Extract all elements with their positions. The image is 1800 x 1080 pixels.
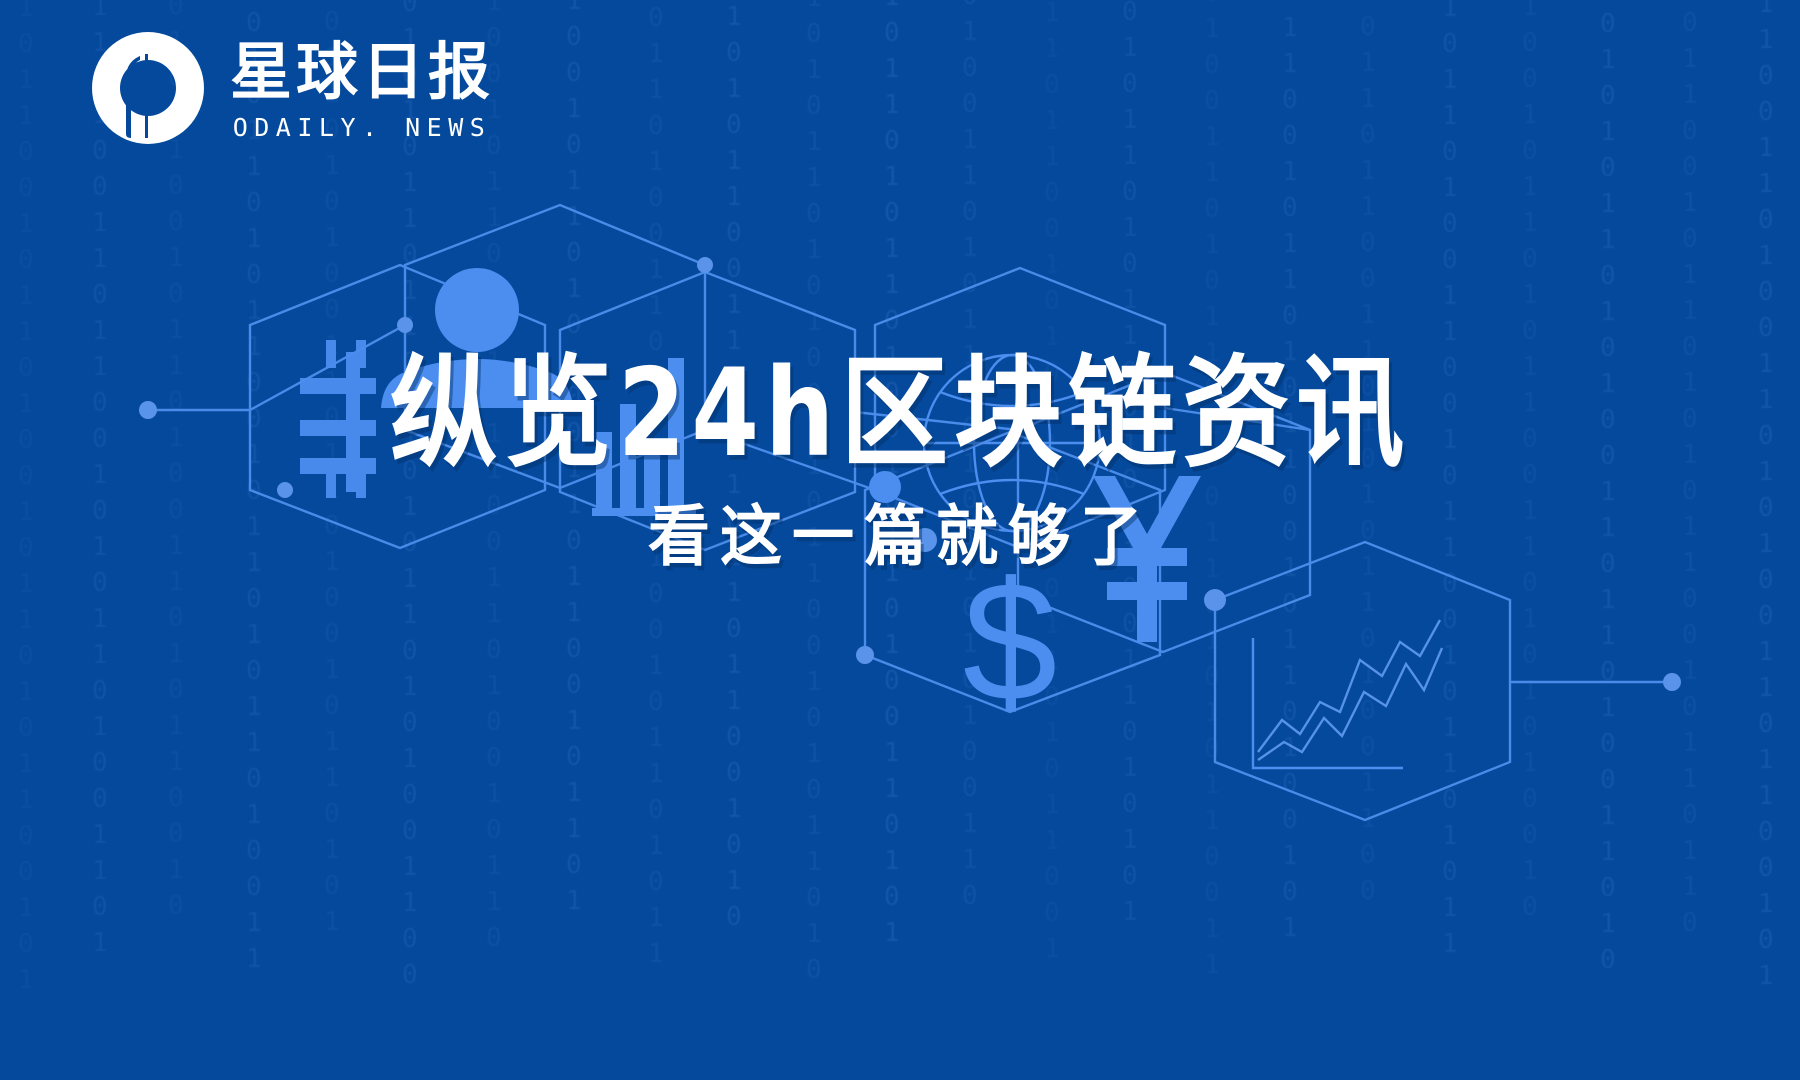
svg-text:$: $ xyxy=(963,547,1058,737)
bitcoin-icon xyxy=(300,340,376,498)
odaily-circle-p-logo xyxy=(88,28,208,148)
node-dot-left-end xyxy=(139,401,157,419)
poster-canvas: 1 0 1 1 0 0 1 0 1 1 0 1 0 0 1 0 1 1 0 1 … xyxy=(0,0,1800,1080)
brand-name-en: ODAILY. NEWS xyxy=(230,114,494,142)
link-mid-c xyxy=(1165,408,1310,430)
bar-chart-icon xyxy=(592,358,696,516)
hexagon-2 xyxy=(405,205,705,488)
node-dot-dollar-hex-lower xyxy=(856,646,874,664)
node-dot-hex7-topleft xyxy=(1204,589,1226,611)
link-mid-b xyxy=(855,412,1018,430)
brand-name-cn: 星球日报 xyxy=(230,40,494,104)
line-chart-icon xyxy=(1253,620,1442,768)
node-dot-hex1-bottom xyxy=(277,482,293,498)
node-dot-subtitle xyxy=(913,528,937,552)
link-mid-a xyxy=(705,430,875,490)
hexagon-7 xyxy=(1215,542,1510,820)
dollar-icon: $ xyxy=(963,547,1058,737)
node-dot-hex2-topright xyxy=(697,257,713,273)
node-dot-hex1-top xyxy=(397,317,413,333)
globe-icon xyxy=(924,355,1100,531)
brand-logo[interactable]: 星球日报 ODAILY. NEWS xyxy=(88,28,494,148)
node-dot-right-end xyxy=(1663,673,1681,691)
hexagon-network-graphic: .hx { fill: none; stroke: #4a8ae8; strok… xyxy=(0,0,1800,1080)
yen-icon xyxy=(1093,476,1201,642)
node-dot-dollar-hex xyxy=(869,471,901,503)
